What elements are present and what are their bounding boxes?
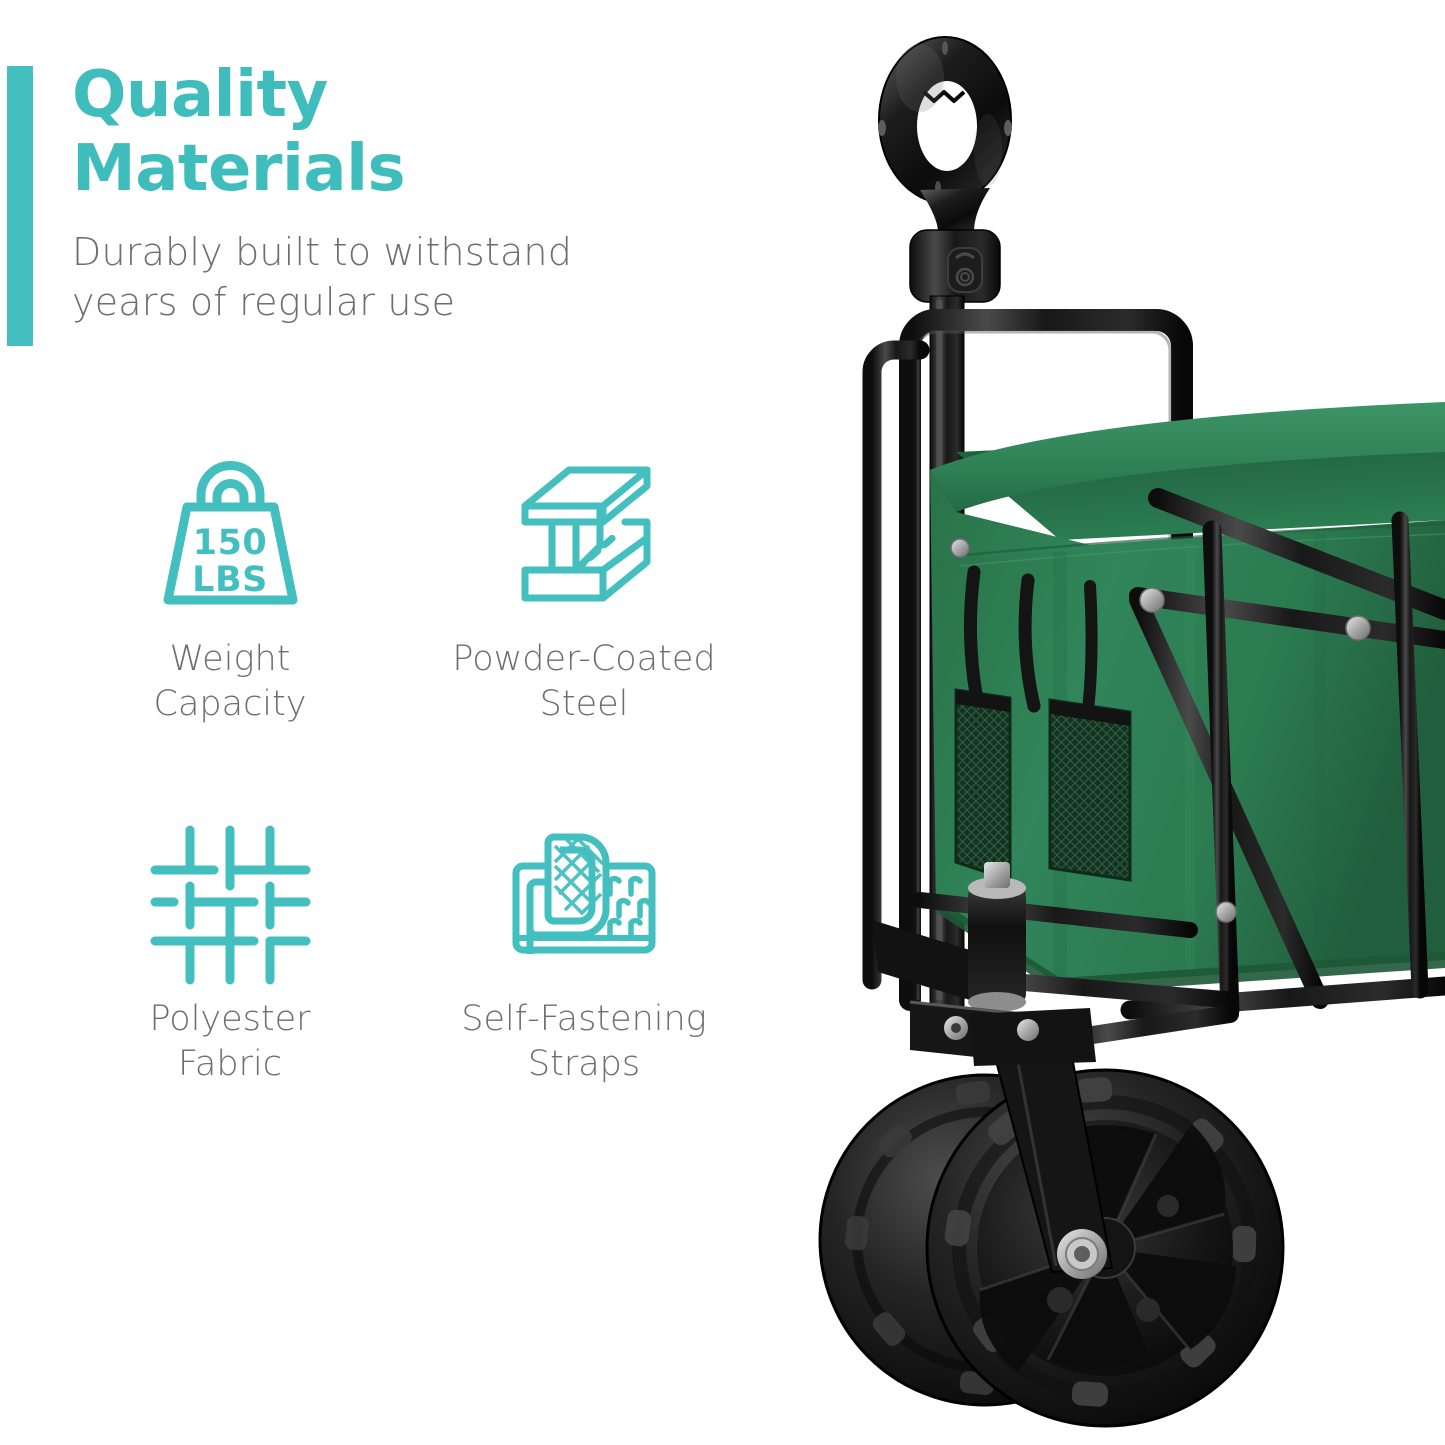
weight-bag-icon: 150 LBS	[143, 450, 318, 625]
axle-bolt	[1057, 1229, 1107, 1279]
feature-item-polyester-fabric: Polyester Fabric	[60, 810, 400, 1110]
accent-bar	[7, 66, 33, 346]
infographic-page: Quality Materials Durably built to withs…	[0, 0, 1445, 1445]
oval-handle-grip	[878, 37, 1012, 232]
hook-and-loop-strap-icon	[497, 810, 672, 985]
feature-item-self-fastening-straps: Self-Fastening Straps	[414, 810, 754, 1110]
product-photo-folding-utility-wagon	[760, 0, 1445, 1445]
feature-grid: 150 LBS Weight Capacity	[60, 450, 760, 1110]
page-subtitle: Durably built to withstand years of regu…	[72, 228, 692, 327]
feature-item-weight-capacity: 150 LBS Weight Capacity	[60, 450, 400, 750]
feature-label-self-fastening-straps: Self-Fastening Straps	[461, 997, 706, 1087]
i-beam-steel-icon	[497, 450, 672, 625]
weight-value-line1: 150	[192, 523, 267, 563]
handle-release-collar	[910, 230, 1000, 302]
feature-label-powder-coated-steel: Powder-Coated Steel	[452, 637, 715, 727]
feature-label-weight-capacity: Weight Capacity	[154, 637, 307, 727]
weight-value-line2: LBS	[192, 560, 268, 600]
left-content-panel: Quality Materials Durably built to withs…	[0, 0, 760, 1445]
feature-item-powder-coated-steel: Powder-Coated Steel	[414, 450, 754, 750]
woven-fabric-icon	[143, 810, 318, 985]
heading-block: Quality Materials Durably built to withs…	[72, 58, 692, 327]
feature-label-polyester-fabric: Polyester Fabric	[149, 997, 310, 1087]
page-title: Quality Materials	[72, 58, 692, 206]
